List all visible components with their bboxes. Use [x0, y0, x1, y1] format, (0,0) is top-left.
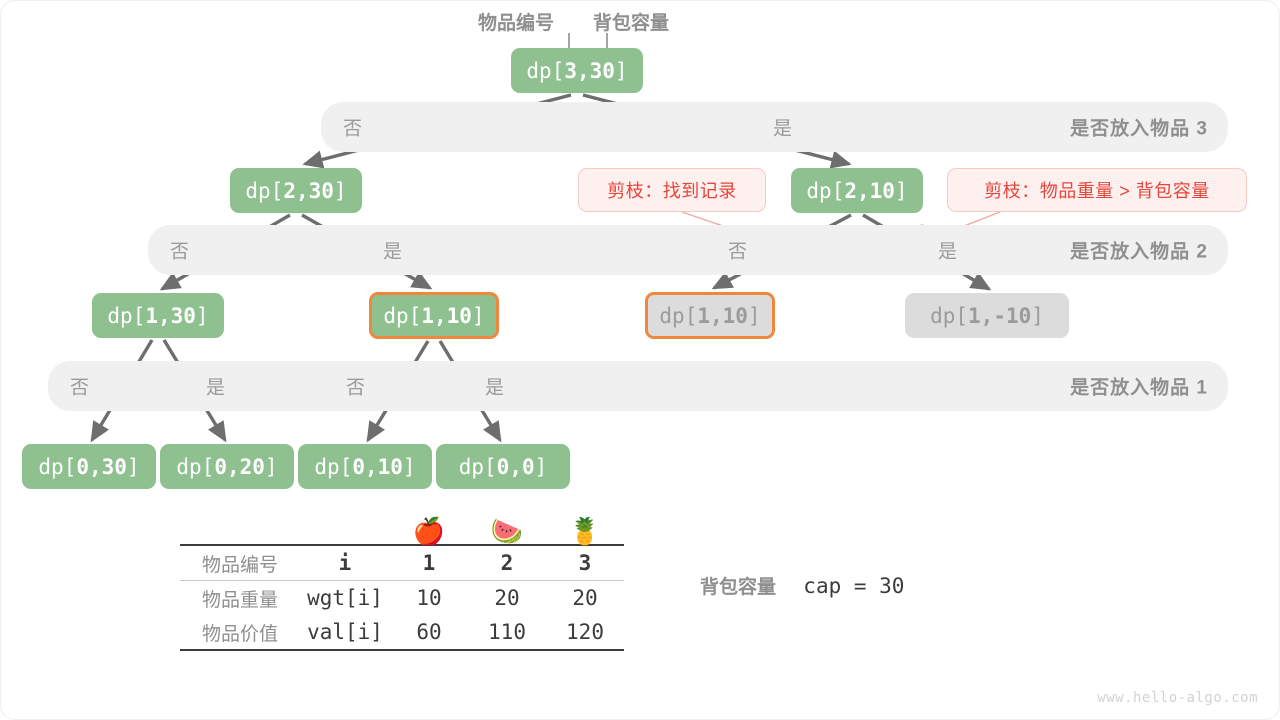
- node-dp-0-0[interactable]: dp[0,0]: [436, 444, 570, 489]
- pineapple-icon: 🍍: [546, 518, 624, 545]
- table-row-index: 物品编号 i 1 2 3: [180, 545, 624, 581]
- cell-index-2: 2: [468, 545, 546, 581]
- node-dp-2-30[interactable]: dp[2,30]: [230, 168, 362, 213]
- watermelon-icon: 🍉: [468, 518, 546, 545]
- node-dp-0-10[interactable]: dp[0,10]: [298, 444, 432, 489]
- table-emoji-row: 🍎 🍉 🍍: [180, 518, 624, 545]
- branch-label-yes: 是: [206, 373, 225, 400]
- row-label-item-weight: 物品重量: [180, 581, 300, 616]
- item-table: 🍎 🍉 🍍 物品编号 i 1 2 3 物品重量 wgt[i] 10 20 20 …: [180, 518, 624, 651]
- branch-label-yes: 是: [938, 237, 957, 264]
- cell-index-3: 3: [546, 545, 624, 581]
- level-bar-item-2: 否 是 否 是 是否放入物品 2: [148, 225, 1228, 275]
- cell-value-2: 110: [468, 615, 546, 650]
- cell-key-i: i: [300, 545, 390, 581]
- item-index-note: 物品编号: [478, 8, 554, 35]
- node-dp-0-20[interactable]: dp[0,20]: [160, 444, 294, 489]
- watermark: www.hello-algo.com: [1097, 690, 1258, 706]
- capacity-note: 背包容量 cap = 30: [700, 572, 904, 599]
- node-dp-2-10[interactable]: dp[2,10]: [791, 168, 923, 213]
- branch-label-yes: 是: [773, 114, 792, 141]
- table-row-value: 物品价值 val[i] 60 110 120: [180, 615, 624, 650]
- branch-label-no: 否: [170, 237, 189, 264]
- table-row-weight: 物品重量 wgt[i] 10 20 20: [180, 581, 624, 616]
- level-title-item-3: 是否放入物品 3: [1070, 114, 1208, 141]
- cell-key-val: val[i]: [300, 615, 390, 650]
- cell-index-1: 1: [390, 545, 468, 581]
- callout-prune-weight: 剪枝：物品重量 > 背包容量: [947, 168, 1247, 212]
- cell-weight-3: 20: [546, 581, 624, 616]
- cell-value-1: 60: [390, 615, 468, 650]
- table-bottom-rule: [180, 650, 624, 651]
- branch-label-no: 否: [728, 237, 747, 264]
- branch-label-yes: 是: [485, 373, 504, 400]
- branch-label-no: 否: [346, 373, 365, 400]
- node-dp-1-30[interactable]: dp[1,30]: [92, 293, 224, 338]
- cell-key-wgt: wgt[i]: [300, 581, 390, 616]
- node-dp-1-10-pruned[interactable]: dp[1,10]: [645, 292, 775, 339]
- bag-capacity-note: 背包容量: [593, 8, 669, 35]
- level-title-item-1: 是否放入物品 1: [1070, 373, 1208, 400]
- branch-label-no: 否: [343, 114, 362, 141]
- cell-weight-2: 20: [468, 581, 546, 616]
- level-bar-item-3: 否 是 是否放入物品 3: [321, 102, 1228, 152]
- row-label-item-index: 物品编号: [180, 545, 300, 581]
- branch-label-yes: 是: [383, 237, 402, 264]
- cell-weight-1: 10: [390, 581, 468, 616]
- branch-label-no: 否: [70, 373, 89, 400]
- node-dp-1-neg10-pruned[interactable]: dp[1,-10]: [905, 293, 1069, 338]
- level-title-item-2: 是否放入物品 2: [1070, 237, 1208, 264]
- capacity-note-value: cap = 30: [803, 574, 904, 598]
- level-bar-item-1: 否 是 否 是 是否放入物品 1: [48, 361, 1228, 411]
- apple-icon: 🍎: [390, 518, 468, 545]
- node-dp-0-30[interactable]: dp[0,30]: [22, 444, 156, 489]
- row-label-item-value: 物品价值: [180, 615, 300, 650]
- cell-value-3: 120: [546, 615, 624, 650]
- capacity-note-label: 背包容量: [700, 577, 776, 598]
- diagram-canvas: 物品编号 背包容量 否 是 是否放入物品 3 否 是 否 是 是否放入物品 2 …: [0, 0, 1280, 720]
- node-dp-3-30[interactable]: dp[3,30]: [511, 48, 643, 93]
- node-dp-1-10-visited[interactable]: dp[1,10]: [369, 292, 499, 339]
- callout-prune-memo: 剪枝：找到记录: [578, 168, 766, 212]
